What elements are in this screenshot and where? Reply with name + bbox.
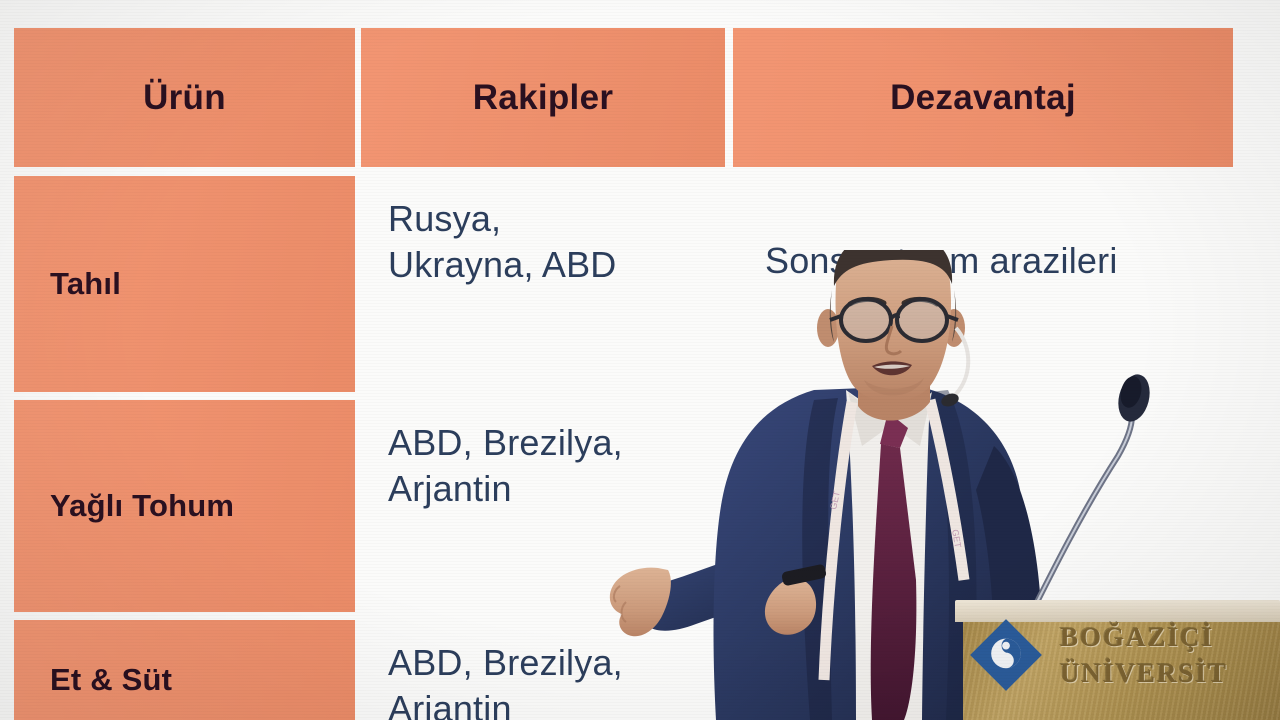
table-header-cell-rakipler: Rakipler: [361, 28, 725, 167]
competitors-line: Rusya,: [388, 196, 617, 242]
header-label-urun: Ürün: [14, 78, 355, 118]
product-label-et-sut: Et & Süt: [14, 662, 172, 698]
podium-text-line1: BOĞAZİÇİ: [1060, 622, 1214, 653]
header-label-rakipler: Rakipler: [361, 78, 725, 118]
competitors-cell-row3: ABD, Brezilya, Arjantin: [388, 640, 718, 720]
product-label-tahil: Tahıl: [14, 266, 121, 302]
gooseneck-microphone: [1020, 370, 1200, 630]
presentation-photo: Ürün Rakipler Dezavantaj Tahıl Yağlı Toh…: [0, 0, 1280, 720]
table-header-cell-dezavantaj: Dezavantaj: [733, 28, 1233, 167]
table-row: Yağlı Tohum: [14, 400, 355, 612]
disadvantage-cell-row1: Sonsuz tarım arazileri: [765, 233, 1235, 289]
table-row: Et & Süt: [14, 620, 355, 720]
competitors-line: ABD, Brezilya,: [388, 640, 623, 686]
disadvantage-text-row1: Sonsuz tarım arazileri: [765, 240, 1118, 282]
competitors-text-row3: ABD, Brezilya, Arjantin: [388, 640, 623, 720]
product-label-yagli-tohum: Yağlı Tohum: [14, 488, 234, 524]
competitors-line: Ukrayna, ABD: [388, 242, 617, 288]
table-row: Tahıl: [14, 176, 355, 392]
competitors-line: ABD, Brezilya,: [388, 420, 623, 466]
competitors-text-row2: ABD, Brezilya, Arjantin: [388, 420, 623, 512]
competitors-cell-row2: ABD, Brezilya, Arjantin: [388, 420, 718, 550]
disadvantage-text-row2: D pasitesi: [762, 459, 922, 501]
competitors-text-row1: Rusya, Ukrayna, ABD: [388, 196, 617, 288]
bogazici-diamond-logo-icon: [967, 616, 1045, 694]
table-header-cell-urun: Ürün: [14, 28, 355, 167]
competitors-line: Arjantin: [388, 686, 623, 720]
header-label-dezavantaj: Dezavantaj: [733, 78, 1233, 118]
competitors-cell-row1: Rusya, Ukrayna, ABD: [388, 196, 718, 326]
podium-text-line2: ÜNİVERSİT: [1060, 658, 1228, 689]
podium: BOĞAZİÇİ ÜNİVERSİT: [955, 600, 1280, 720]
competitors-line: Arjantin: [388, 466, 623, 512]
